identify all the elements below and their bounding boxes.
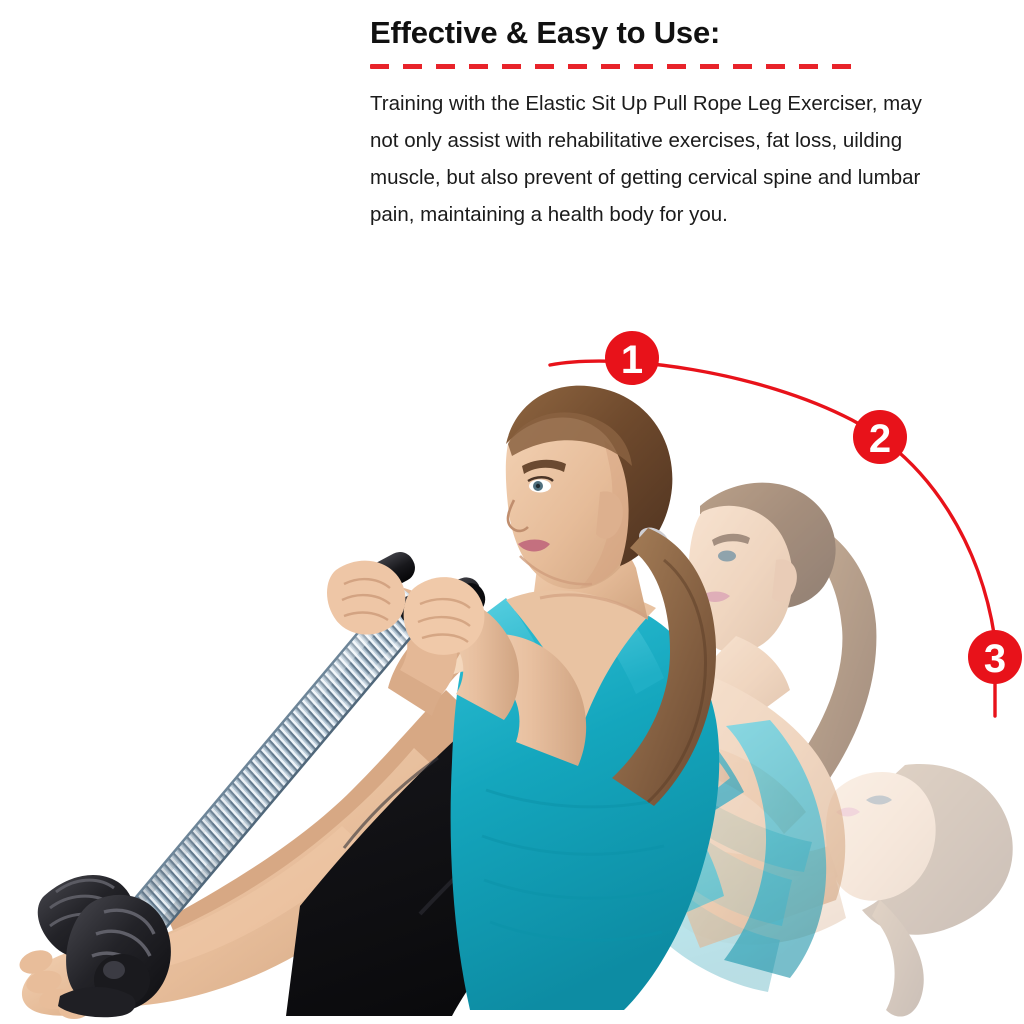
- step-badge-1-label: 1: [621, 338, 643, 382]
- figure3-lips: [836, 808, 860, 817]
- product-feature-panel: Effective & Easy to Use: Training with t…: [0, 0, 1024, 1024]
- figure1-hand-left: [327, 561, 405, 635]
- motion-arc-path: [550, 361, 995, 640]
- figure1-top-strap-left: [482, 598, 560, 712]
- figure-stage-2-mid: [596, 483, 876, 978]
- figure1-hair-fringe: [508, 412, 632, 466]
- figure2-neck: [700, 636, 790, 724]
- pull-rope-exerciser-device: [38, 547, 489, 1017]
- device-pedal-strap-upper: [38, 875, 135, 959]
- figure1-eyelid: [528, 477, 553, 481]
- figure1-far-arm: [388, 612, 486, 716]
- figure1-far-leg: [168, 690, 500, 968]
- device-handle-right: [395, 574, 489, 628]
- motion-arc-group: [550, 361, 995, 716]
- step-badge-2-circle[interactable]: [853, 410, 907, 464]
- figure1-face-shadow: [580, 440, 633, 588]
- figure1-foot: [22, 946, 146, 1016]
- step-badge-2-label: 2: [869, 417, 891, 461]
- step-badge-1-circle[interactable]: [605, 331, 659, 385]
- figure1-eyebrow: [522, 460, 566, 474]
- figure3-top-body: [660, 812, 792, 926]
- figure-stage-3-reclined: [636, 744, 1013, 1017]
- figure1-pupil: [536, 484, 540, 488]
- figure3-hair: [862, 764, 1013, 935]
- figure1-forearm: [410, 596, 519, 720]
- figure1-top-strap-right: [574, 582, 664, 694]
- device-spring-bar: [100, 585, 432, 968]
- figure1-leggings: [286, 630, 700, 1016]
- figure2-eye: [718, 551, 736, 562]
- figure3-top-strap: [678, 790, 812, 872]
- figure1-second-foot: [61, 904, 168, 960]
- figure1-jaw-shade: [520, 556, 592, 584]
- figure1-toes: [16, 946, 89, 1019]
- figure3-torso: [659, 852, 846, 945]
- figure3-arm: [688, 744, 806, 834]
- figure1-forearm-2: [354, 586, 457, 694]
- figure2-ear: [772, 559, 797, 601]
- page-title: Effective & Easy to Use:: [370, 16, 970, 50]
- figure1-hair-tie: [635, 522, 674, 557]
- figure1-upper-arm: [446, 634, 586, 766]
- figure1-hand-left-fingers: [342, 579, 390, 620]
- figure1-leg-seam: [420, 756, 604, 914]
- figure1-hand-right: [404, 577, 485, 655]
- figure1-collarbone: [540, 595, 648, 618]
- figure3-eye: [866, 796, 892, 805]
- text-block: Effective & Easy to Use: Training with t…: [370, 16, 970, 233]
- device-pedal-ribs-upper: [50, 880, 114, 926]
- device-pedal-knob: [94, 954, 150, 1006]
- figure2-ponytail: [786, 518, 876, 792]
- figure1-hand-right-fingers: [418, 599, 470, 642]
- figure1-nose-shade: [508, 500, 528, 531]
- figure1-iris: [533, 481, 543, 491]
- figure3-neck-chest: [688, 846, 838, 906]
- figure1-ponytail: [612, 528, 716, 806]
- figure2-head: [689, 506, 793, 653]
- device-spring-edge-bottom: [132, 612, 432, 968]
- figure3-ponytail: [872, 900, 924, 1017]
- figure1-ponytail-strand: [648, 560, 705, 802]
- device-pedal-main: [66, 895, 171, 1012]
- figure1-nose: [509, 498, 530, 530]
- device-spring-edge-top: [100, 585, 398, 940]
- figure1-shin: [92, 748, 470, 1007]
- figure2-hair: [700, 483, 836, 609]
- step-badge-3-label: 3: [984, 637, 1006, 681]
- figure1-top-neckline: [506, 589, 656, 722]
- device-handle-left: [325, 547, 419, 615]
- device-spring-bar-2: [140, 600, 420, 922]
- figure1-shin-highlight: [150, 826, 368, 966]
- device-foot-pedal: [38, 875, 171, 1017]
- figure3-head: [826, 772, 936, 901]
- step-badge-1[interactable]: 1: [605, 331, 659, 385]
- figure2-top-side: [596, 760, 724, 924]
- figure1-knee-seam: [344, 758, 438, 848]
- device-pedal-ribs-main: [92, 910, 154, 976]
- figure1-lips: [518, 540, 550, 552]
- figure1-top-folds: [482, 790, 664, 940]
- step-badge-3-circle[interactable]: [968, 630, 1022, 684]
- figure2-torso: [646, 668, 845, 948]
- figure1-top-body: [451, 598, 720, 1010]
- figure3-top-lower: [636, 860, 780, 992]
- figure2-top-strap-front: [638, 690, 744, 812]
- step-badge-2[interactable]: 2: [853, 410, 907, 464]
- device-spring-shading: [100, 585, 432, 968]
- figure1-hair: [506, 386, 672, 566]
- description-paragraph: Training with the Elastic Sit Up Pull Ro…: [370, 69, 952, 233]
- figure1-ear: [596, 491, 623, 539]
- figure2-eyebrow: [712, 534, 750, 546]
- device-pedal-knob-highlight: [103, 961, 125, 979]
- figure1-neck: [534, 520, 648, 620]
- figure2-arm: [606, 700, 730, 802]
- figure1-head: [506, 408, 645, 589]
- figure-stage-1-upright: [16, 386, 719, 1019]
- step-badge-3[interactable]: 3: [968, 630, 1022, 684]
- figure2-top-back: [724, 720, 826, 978]
- figure2-lips: [700, 592, 730, 603]
- device-pedal-tail: [58, 987, 136, 1017]
- figure1-eye: [529, 480, 551, 493]
